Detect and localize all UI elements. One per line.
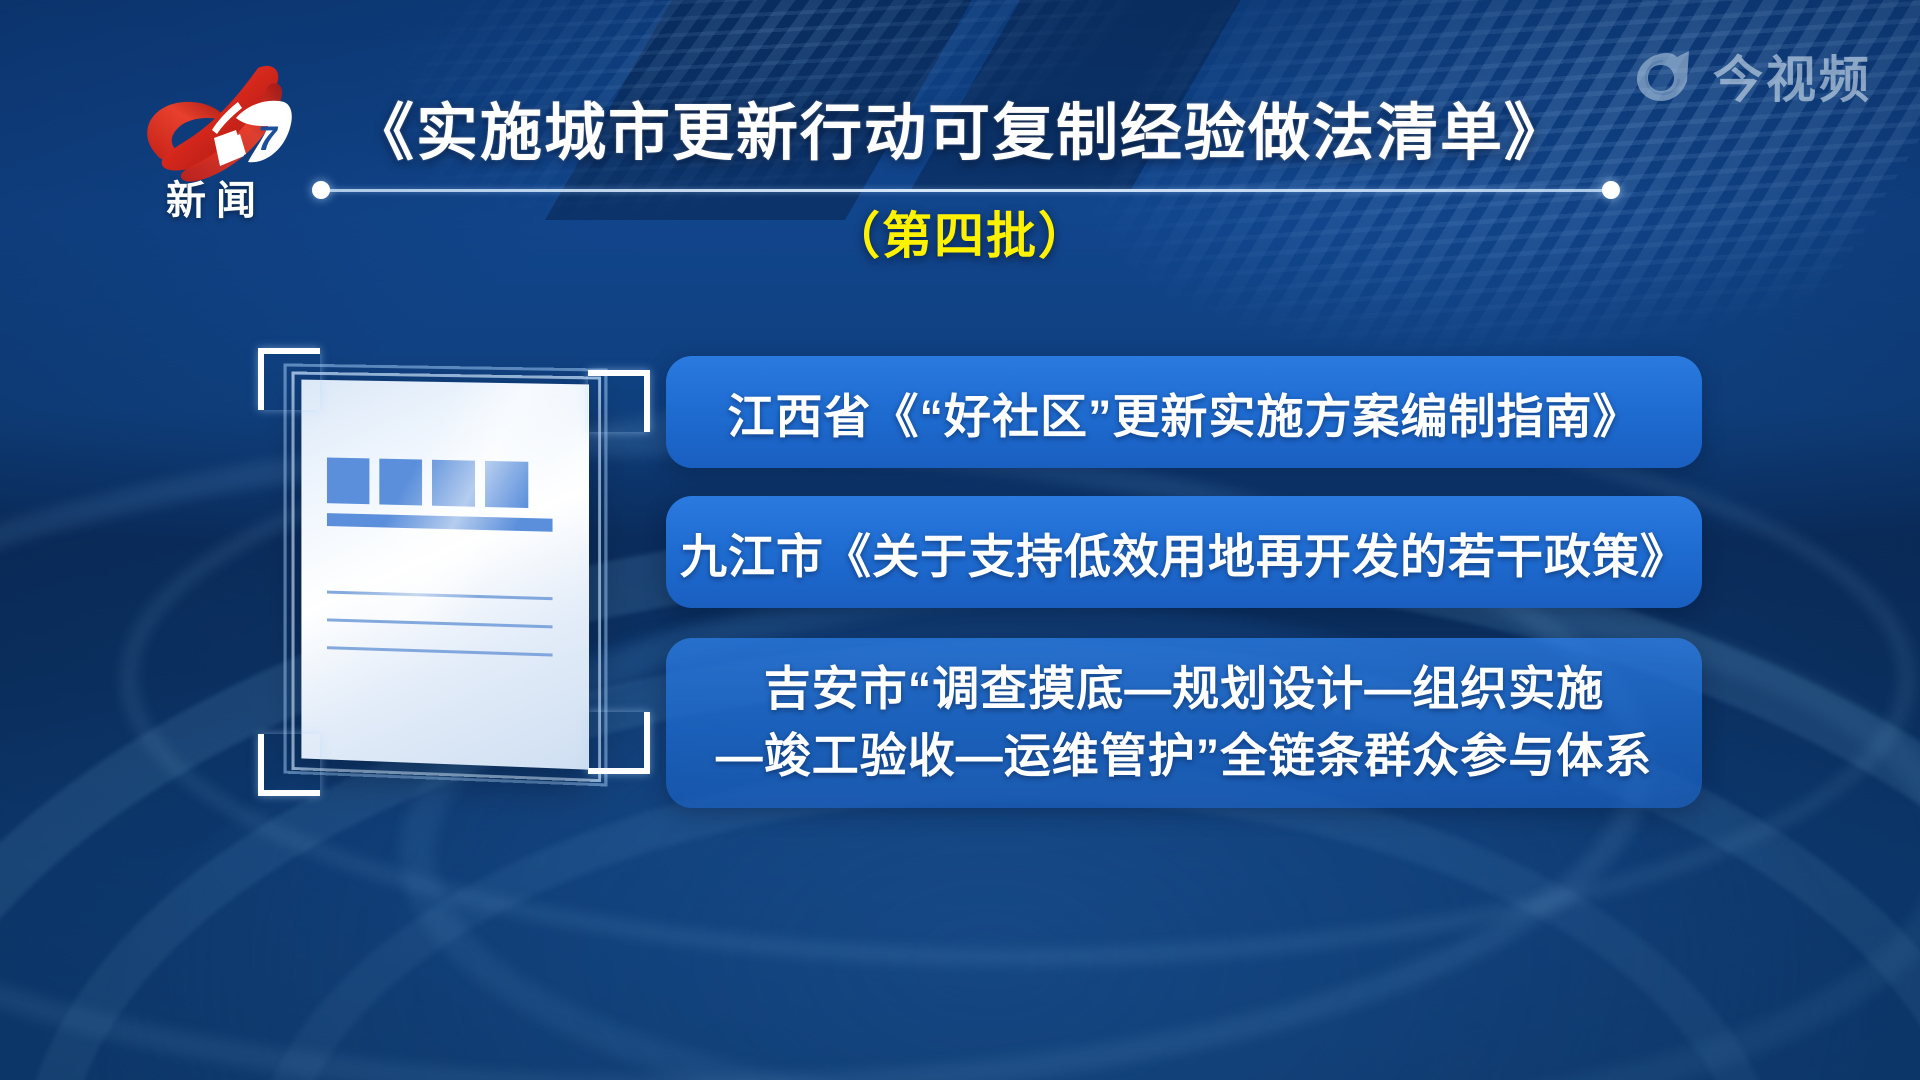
document-thumbnail-block [379,459,422,506]
corner-bracket-bottom-left-icon [258,734,320,796]
page-title: 《实施城市更新行动可复制经验做法清单》 [0,82,1920,172]
title-divider [322,189,1610,192]
watermark-brand-text: 今视频 [1713,40,1872,112]
document-text-line [327,618,553,628]
experience-list: 江西省《“好社区”更新实施方案编制指南》 九江市《关于支持低效用地再开发的若干政… [666,356,1702,808]
broadcast-graphic-stage: 7 新闻 《实施城市更新行动可复制经验做法清单》 （第四批） 今视频 [0,0,1920,1080]
list-item-text: 江西省《“好社区”更新实施方案编制指南》 [728,378,1641,447]
document-text-line [327,591,553,601]
document-text-line [327,646,553,656]
list-item-text-line-2: —竣工验收—运维管护”全链条群众参与体系 [716,723,1653,790]
document-heading-bar [327,513,553,532]
list-item-text-line-1: 吉安市“调查摸底—规划设计—组织实施 [764,656,1605,723]
document-thumbnail-block [327,457,369,504]
document-thumbnail-block [432,460,475,507]
list-item[interactable]: 江西省《“好社区”更新实施方案编制指南》 [666,356,1702,468]
channel-watermark: 今视频 [1633,40,1872,112]
document-page [301,380,589,770]
corner-bracket-top-right-icon [588,370,650,432]
document-thumbnail-row [327,457,528,508]
page-subtitle: （第四批） [0,196,1920,268]
document-thumbnail-block [485,461,528,508]
corner-bracket-top-left-icon [258,348,320,410]
list-item[interactable]: 吉安市“调查摸底—规划设计—组织实施 —竣工验收—运维管护”全链条群众参与体系 [666,638,1702,808]
corner-bracket-bottom-right-icon [588,712,650,774]
alpha-mark-icon [1633,47,1693,105]
document-sheet-illustration [258,348,650,796]
list-item-text: 九江市《关于支持低效用地再开发的若干政策》 [680,518,1688,587]
list-item[interactable]: 九江市《关于支持低效用地再开发的若干政策》 [666,496,1702,608]
